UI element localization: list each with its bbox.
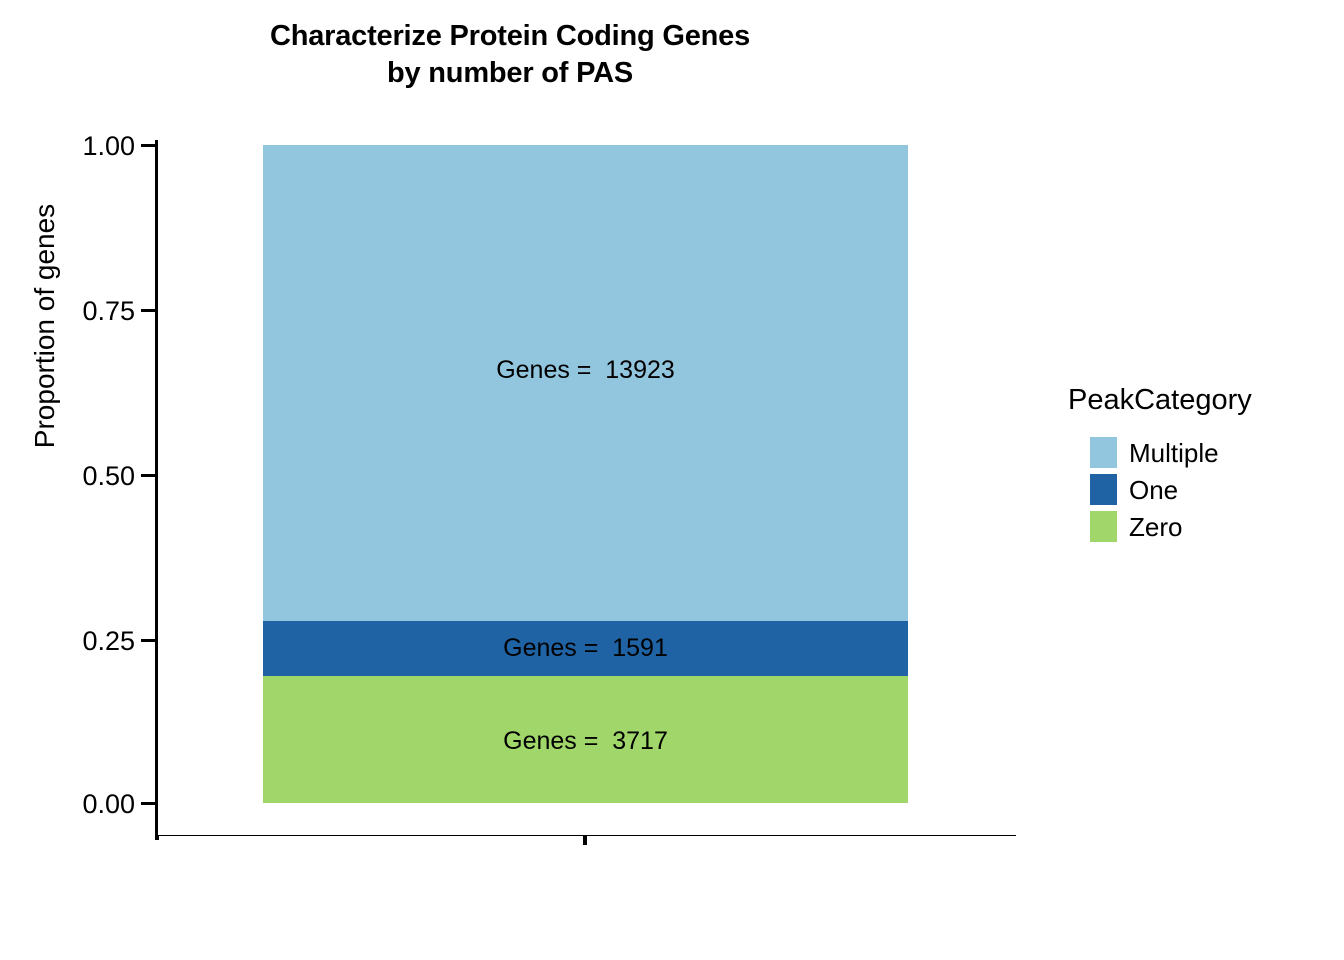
chart-page: Characterize Protein Coding Genes by num… [0,0,1344,960]
stacked-bar: Genes = 13923 Genes = 1591 Genes = 3717 [263,145,908,803]
bar-segment-one[interactable]: Genes = 1591 [263,621,908,676]
legend-swatch-multiple [1090,437,1117,468]
bar-segment-multiple[interactable]: Genes = 13923 [263,145,908,621]
y-axis-tick-label-0.75: 0.75 [5,296,135,327]
y-axis-tick-label-1.00: 1.00 [5,131,135,162]
y-axis-tick-mark [141,474,156,477]
plot-panel: Genes = 13923 Genes = 1591 Genes = 3717 [158,140,1016,835]
legend-swatch-zero [1090,511,1117,542]
y-axis-tick-label-0.00: 0.00 [5,789,135,820]
bar-label-zero: Genes = 3717 [263,727,908,756]
legend: PeakCategory Multiple One Zero [1066,386,1344,548]
y-axis-tick-label-0.25: 0.25 [5,626,135,657]
legend-label-one: One [1129,477,1178,503]
y-axis-tick-label-0.50: 0.50 [5,461,135,492]
legend-item-multiple[interactable]: Multiple [1066,437,1344,468]
y-axis-tick-mark [141,144,156,147]
legend-label-multiple: Multiple [1129,440,1219,466]
legend-swatch-one [1090,474,1117,505]
legend-item-zero[interactable]: Zero [1066,511,1344,542]
bar-label-one: Genes = 1591 [263,634,908,663]
legend-title: PeakCategory [1068,386,1344,415]
chart-title: Characterize Protein Coding Genes by num… [0,18,1020,92]
x-axis-tick-mark [583,836,587,845]
y-axis-tick-mark [141,309,156,312]
y-axis-tick-mark [141,639,156,642]
bar-segment-zero[interactable]: Genes = 3717 [263,676,908,803]
bar-label-multiple: Genes = 13923 [263,356,908,385]
legend-item-one[interactable]: One [1066,474,1344,505]
legend-label-zero: Zero [1129,514,1182,540]
y-axis-tick-mark [141,802,156,805]
